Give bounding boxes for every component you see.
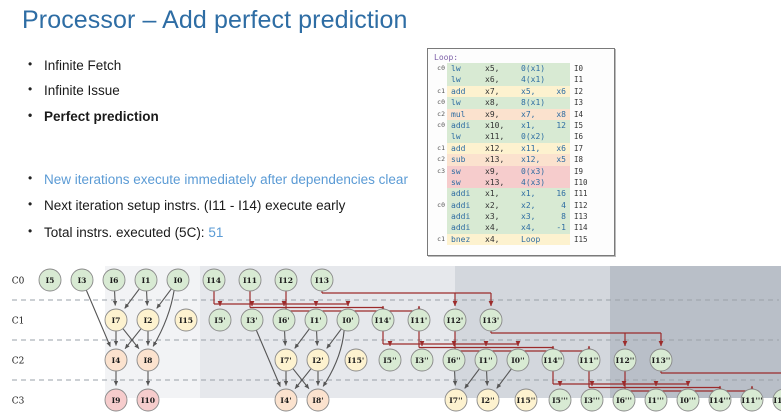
code-op: add — [451, 86, 465, 97]
code-a2: 8(x1) — [521, 97, 545, 108]
code-row-instruction: addix4,x4,-1 — [447, 222, 570, 233]
code-a3: x6 — [556, 86, 566, 97]
timeline-node[interactable]: I5'' — [379, 349, 401, 371]
code-row-instruction: addix1,x1,16 — [447, 188, 570, 199]
code-row: addix1,x1,16I11 — [431, 188, 612, 199]
node-label: I14'' — [544, 356, 563, 365]
bullet-list-bottom: New iterations execute immediately after… — [18, 172, 448, 251]
timeline-node[interactable]: I13'' — [650, 349, 672, 371]
code-row-instruction: mulx9,x7,x8 — [447, 109, 570, 120]
code-row-cycle: c0 — [431, 63, 447, 74]
timeline-band — [610, 266, 781, 398]
timeline-node[interactable]: I14'' — [542, 349, 564, 371]
code-op: addi — [451, 120, 470, 131]
timeline-node[interactable]: I15' — [345, 349, 367, 371]
code-op: sw — [451, 166, 461, 177]
code-a1: x5, — [485, 63, 499, 74]
bullet-item: Total instrs. executed (5C): 51 — [18, 225, 448, 241]
code-row: c0lwx8,8(x1)I3 — [431, 97, 612, 108]
bullet-item: New iterations execute immediately after… — [18, 172, 448, 188]
code-row-instruction: subx13,x12,x5 — [447, 154, 570, 165]
code-a2: 4(x3) — [521, 177, 545, 188]
dependency-edge — [317, 331, 318, 346]
code-a2: x3, — [521, 211, 535, 222]
code-a1: x11, — [485, 131, 504, 142]
code-row-cycle: c1 — [431, 86, 447, 97]
code-row-id: I6 — [570, 131, 596, 142]
timeline-row-label: C2 — [12, 357, 25, 367]
timeline-node[interactable]: I5 — [39, 269, 61, 291]
code-a2: x2, — [521, 200, 535, 211]
code-op: lw — [451, 97, 461, 108]
bullet-item: Next iteration setup instrs. (I11 - I14)… — [18, 198, 448, 214]
timeline-node[interactable]: I11' — [408, 309, 430, 331]
timeline-node[interactable]: I1''' — [645, 389, 667, 411]
code-row-cycle: c1 — [431, 234, 447, 245]
code-op: addi — [451, 188, 470, 199]
code-op: sw — [451, 177, 461, 188]
code-row-id: I4 — [570, 109, 596, 120]
code-row-instruction: addx7,x5,x6 — [447, 86, 570, 97]
code-row: c1addx7,x5,x6I2 — [431, 86, 612, 97]
code-row-instruction: addix2,x2,4 — [447, 200, 570, 211]
node-label: I3''' — [584, 396, 600, 405]
node-label: I5 — [46, 276, 55, 285]
timeline-node[interactable]: I13' — [480, 309, 502, 331]
code-row-id: I15 — [570, 234, 596, 245]
node-label: I5''' — [552, 396, 568, 405]
timeline-row-label: C0 — [12, 277, 25, 287]
code-a1: x6, — [485, 74, 499, 85]
node-label: I11 — [243, 276, 257, 285]
total-instruction-count: 51 — [208, 225, 223, 240]
node-label: I13'' — [652, 356, 671, 365]
node-label: I13' — [483, 316, 499, 325]
code-rows: c0lwx5,0(x1)I0lwx6,4(x1)I1c1addx7,x5,x6I… — [431, 63, 612, 245]
code-row-id: I10 — [570, 177, 596, 188]
timeline-node[interactable]: I0'' — [507, 349, 529, 371]
code-a3: -1 — [556, 222, 566, 233]
code-row-instruction: addix10,x1,12 — [447, 120, 570, 131]
node-label: I4' — [280, 396, 291, 405]
code-a2: 0(x1) — [521, 63, 545, 74]
bullet-item: Perfect prediction — [18, 109, 438, 125]
timeline-node[interactable]: I2 — [137, 309, 159, 331]
timeline-node[interactable]: I5''' — [549, 389, 571, 411]
code-a2: x11, — [521, 143, 540, 154]
timeline-node[interactable]: I4 — [105, 349, 127, 371]
node-label: I5'' — [383, 356, 397, 365]
code-row: c3swx9,0(x3)I9 — [431, 166, 612, 177]
node-label: I1''' — [648, 396, 664, 405]
code-op: bnez — [451, 234, 470, 245]
code-row: addix4,x4,-1I14 — [431, 222, 612, 233]
timeline-node[interactable]: I14' — [372, 309, 394, 331]
timeline-node[interactable]: I11''' — [741, 389, 763, 411]
code-row-id: I7 — [570, 143, 596, 154]
timeline-row-label: C3 — [12, 397, 25, 407]
timeline-node[interactable]: I9 — [105, 389, 127, 411]
node-label: I10 — [141, 396, 155, 405]
bullet-item: Infinite Issue — [18, 83, 438, 99]
timeline-node[interactable]: I6'' — [443, 349, 465, 371]
code-row-instruction: lwx6,4(x1) — [447, 74, 570, 85]
node-label: I1'' — [479, 356, 493, 365]
code-row: c1addx12,x11,x6I7 — [431, 143, 612, 154]
code-row-id: I11 — [570, 188, 596, 199]
node-label: I0' — [342, 316, 353, 325]
code-listing: Loop: c0lwx5,0(x1)I0lwx6,4(x1)I1c1addx7,… — [427, 48, 615, 256]
node-label: I12'' — [616, 356, 635, 365]
dependency-edge — [147, 291, 148, 306]
node-label: I14''' — [709, 396, 730, 405]
code-a3: x8 — [556, 109, 566, 120]
timeline-node[interactable]: I5' — [209, 309, 231, 331]
node-label: I7'' — [449, 396, 463, 405]
code-row-id: I12 — [570, 200, 596, 211]
bullet-text: Total instrs. executed (5C): — [44, 225, 208, 240]
node-label: I11'' — [580, 356, 599, 365]
node-label: I0 — [174, 276, 183, 285]
node-label: I12''' — [773, 396, 781, 405]
timeline-node[interactable]: I6' — [273, 309, 295, 331]
node-label: I15 — [179, 316, 193, 325]
node-label: I7' — [280, 356, 291, 365]
timeline-svg: I4I8I5I3I6I1I0I14I11I12I13I7I2I15I5'I3'I… — [0, 262, 781, 416]
code-row: c0addix2,x2,4I12 — [431, 200, 612, 211]
code-row-instruction: lwx8,8(x1) — [447, 97, 570, 108]
code-a1: x3, — [485, 211, 499, 222]
node-label: I2' — [312, 356, 323, 365]
code-op: lw — [451, 63, 461, 74]
code-row-instruction: lwx5,0(x1) — [447, 63, 570, 74]
code-op: mul — [451, 109, 465, 120]
node-label: I8 — [144, 356, 153, 365]
code-op: lw — [451, 74, 461, 85]
code-a1: x13, — [485, 177, 504, 188]
dependency-edge — [285, 331, 286, 346]
timeline-node[interactable]: I14''' — [709, 389, 731, 411]
code-row: c1bnezx4,LoopI15 — [431, 234, 612, 245]
node-label: I3' — [246, 316, 257, 325]
timeline-node[interactable]: I1' — [305, 309, 327, 331]
code-listing-body: Loop: c0lwx5,0(x1)I0lwx6,4(x1)I1c1addx7,… — [428, 49, 614, 247]
timeline-node[interactable]: I8' — [307, 389, 329, 411]
timeline-node[interactable]: I11 — [239, 269, 261, 291]
node-label: I3 — [78, 276, 87, 285]
node-label: I3'' — [415, 356, 429, 365]
timeline-node[interactable]: I7 — [105, 309, 127, 331]
node-label: I6''' — [616, 396, 632, 405]
node-label: I1 — [142, 276, 151, 285]
code-row: c2mulx9,x7,x8I4 — [431, 109, 612, 120]
slide-root: Processor – Add perfect prediction Infin… — [0, 0, 781, 416]
timeline-node[interactable]: I12' — [444, 309, 466, 331]
code-a1: x2, — [485, 200, 499, 211]
code-a2: x4, — [521, 222, 535, 233]
node-label: I15' — [348, 356, 364, 365]
timeline-node[interactable]: I3''' — [581, 389, 603, 411]
code-a3: 4 — [561, 200, 566, 211]
dependency-edge — [455, 371, 456, 386]
timeline-node[interactable]: I1'' — [475, 349, 497, 371]
code-a2: Loop — [521, 234, 540, 245]
timeline-row-label: C1 — [12, 317, 25, 327]
code-op: addi — [451, 222, 470, 233]
node-label: I12 — [279, 276, 293, 285]
code-a2: x1, — [521, 188, 535, 199]
code-a2: 4(x1) — [521, 74, 545, 85]
code-row-id: I9 — [570, 166, 596, 177]
code-a3: x5 — [556, 154, 566, 165]
node-label: I6 — [110, 276, 119, 285]
timeline-node[interactable]: I1 — [135, 269, 157, 291]
code-a1: x7, — [485, 86, 499, 97]
code-row-cycle: c3 — [431, 166, 447, 177]
code-row-instruction: swx13,4(x3) — [447, 177, 570, 188]
code-row-instruction: swx9,0(x3) — [447, 166, 570, 177]
code-row: lwx11,0(x2)I6 — [431, 131, 612, 142]
code-row-id: I14 — [570, 222, 596, 233]
timeline-node[interactable]: I3' — [241, 309, 263, 331]
code-row-id: I3 — [570, 97, 596, 108]
node-label: I6' — [278, 316, 289, 325]
timeline-node[interactable]: I6''' — [613, 389, 635, 411]
timeline-node[interactable]: I13 — [311, 269, 333, 291]
code-row-instruction: addix3,x3,8 — [447, 211, 570, 222]
code-a3: 16 — [556, 188, 566, 199]
node-label: I8' — [312, 396, 323, 405]
timeline-node[interactable]: I2' — [307, 349, 329, 371]
timeline-node[interactable]: I0''' — [677, 389, 699, 411]
code-a3: 8 — [561, 211, 566, 222]
timeline-node[interactable]: I2'' — [477, 389, 499, 411]
code-row-id: I13 — [570, 211, 596, 222]
node-label: I9 — [112, 396, 121, 405]
code-a1: x1, — [485, 188, 499, 199]
node-label: I15'' — [517, 396, 536, 405]
bullet-item: Infinite Fetch — [18, 58, 438, 74]
timeline-node[interactable]: I10 — [137, 389, 159, 411]
code-op: addi — [451, 211, 470, 222]
code-row: c0addix10,x1,12I5 — [431, 120, 612, 131]
page-title: Processor – Add perfect prediction — [22, 6, 408, 35]
code-a1: x9, — [485, 166, 499, 177]
timeline-node[interactable]: I7'' — [445, 389, 467, 411]
code-a1: x8, — [485, 97, 499, 108]
code-row-cycle: c1 — [431, 143, 447, 154]
code-row-id: I1 — [570, 74, 596, 85]
node-label: I5' — [214, 316, 225, 325]
code-row-id: I0 — [570, 63, 596, 74]
code-row: addix3,x3,8I13 — [431, 211, 612, 222]
code-a2: x12, — [521, 154, 540, 165]
code-a1: x10, — [485, 120, 504, 131]
node-label: I1' — [310, 316, 321, 325]
code-a1: x12, — [485, 143, 504, 154]
timeline-node[interactable]: I0 — [167, 269, 189, 291]
node-label: I2 — [144, 316, 153, 325]
timeline-node[interactable]: I3 — [71, 269, 93, 291]
code-row-instruction: addx12,x11,x6 — [447, 143, 570, 154]
code-a2: 0(x2) — [521, 131, 545, 142]
code-row-cycle: c0 — [431, 97, 447, 108]
timeline-band — [455, 266, 610, 398]
code-row-cycle: c2 — [431, 109, 447, 120]
node-label: I13 — [315, 276, 329, 285]
code-row-instruction: bnezx4,Loop — [447, 234, 570, 245]
code-row: swx13,4(x3)I10 — [431, 177, 612, 188]
node-label: I11' — [411, 316, 427, 325]
code-a2: x1, — [521, 120, 535, 131]
timeline-node[interactable]: I8 — [137, 349, 159, 371]
code-row-id: I2 — [570, 86, 596, 97]
timeline-node[interactable]: I6 — [103, 269, 125, 291]
code-row-cycle: c0 — [431, 120, 447, 131]
node-label: I7 — [112, 316, 121, 325]
timeline-node[interactable]: I12'' — [614, 349, 636, 371]
node-label: I4 — [112, 356, 121, 365]
timeline-node[interactable]: I4' — [275, 389, 297, 411]
loop-label: Loop: — [431, 52, 612, 63]
code-a2: x7, — [521, 109, 535, 120]
node-label: I14 — [207, 276, 221, 285]
timeline-node[interactable]: I14 — [203, 269, 225, 291]
timeline-node[interactable]: I12 — [275, 269, 297, 291]
dependency-edge — [115, 291, 116, 306]
code-op: lw — [451, 131, 461, 142]
code-row-id: I8 — [570, 154, 596, 165]
code-op: sub — [451, 154, 465, 165]
node-label: I14' — [375, 316, 391, 325]
code-a1: x13, — [485, 154, 504, 165]
timeline-node[interactable]: I3'' — [411, 349, 433, 371]
code-a1: x9, — [485, 109, 499, 120]
code-a3: x6 — [556, 143, 566, 154]
bullet-list-top: Infinite Fetch Infinite Issue Perfect pr… — [18, 58, 438, 134]
code-a2: x5, — [521, 86, 535, 97]
node-label: I6'' — [447, 356, 461, 365]
node-label: I2'' — [481, 396, 495, 405]
dependency-edge — [487, 371, 488, 386]
code-a1: x4, — [485, 222, 499, 233]
code-a3: 12 — [556, 120, 566, 131]
code-row: c2subx13,x12,x5I8 — [431, 154, 612, 165]
code-row: c0lwx5,0(x1)I0 — [431, 63, 612, 74]
timeline-node[interactable]: I11'' — [578, 349, 600, 371]
node-label: I0''' — [680, 396, 696, 405]
code-row-cycle: c0 — [431, 200, 447, 211]
node-label: I11''' — [741, 396, 762, 405]
code-a2: 0(x3) — [521, 166, 545, 177]
code-op: add — [451, 143, 465, 154]
timeline-node[interactable]: I7' — [275, 349, 297, 371]
code-row: lwx6,4(x1)I1 — [431, 74, 612, 85]
code-row-id: I5 — [570, 120, 596, 131]
node-label: I12' — [447, 316, 463, 325]
timeline-node[interactable]: I0' — [337, 309, 359, 331]
code-row-cycle: c2 — [431, 154, 447, 165]
node-label: I0'' — [511, 356, 525, 365]
code-a1: x4, — [485, 234, 499, 245]
timeline-node[interactable]: I15 — [175, 309, 197, 331]
execution-timeline: I4I8I5I3I6I1I0I14I11I12I13I7I2I15I5'I3'I… — [0, 262, 781, 416]
code-op: addi — [451, 200, 470, 211]
code-row-instruction: lwx11,0(x2) — [447, 131, 570, 142]
timeline-node[interactable]: I15'' — [515, 389, 537, 411]
